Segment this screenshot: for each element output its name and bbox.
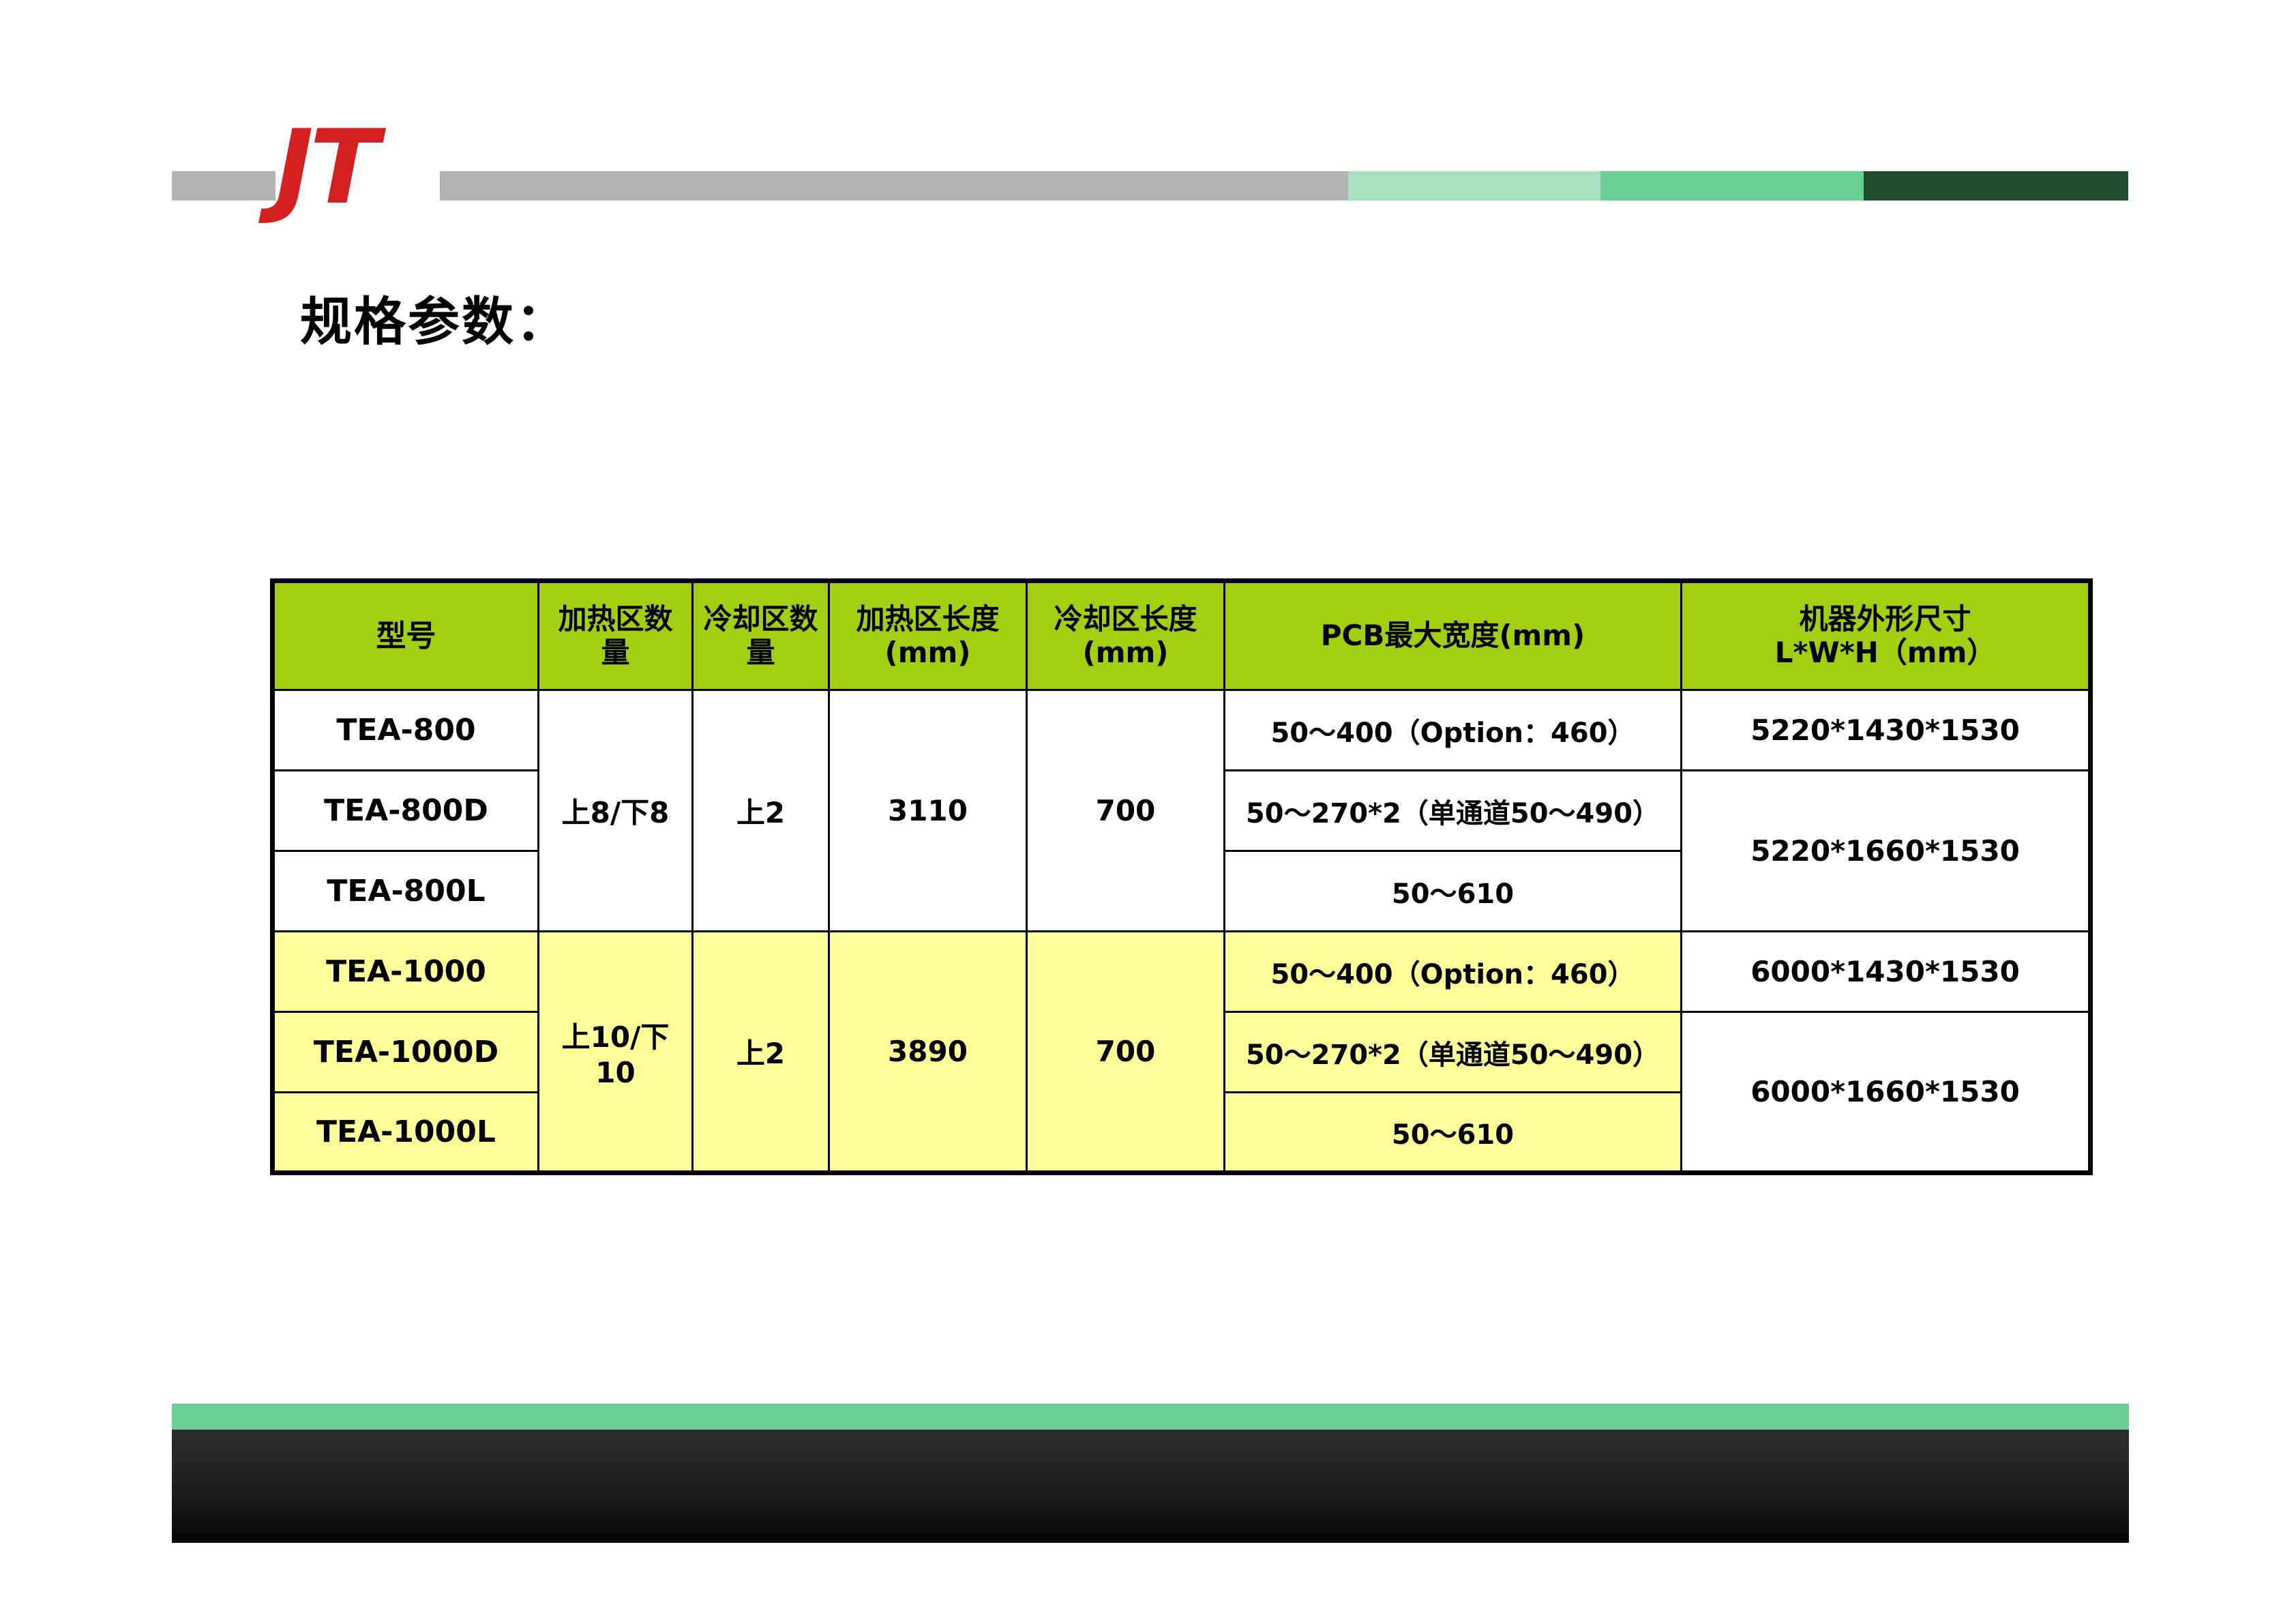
spec-table-body: TEA-800 上8/下8 上2 3110 700 50～400（Option：… <box>273 690 2091 1173</box>
table-row: TEA-1000 上10/下10 上2 3890 700 50～400（Opti… <box>273 932 2091 1012</box>
machine-dims-line1: 机器外形尺寸 <box>1799 602 1971 636</box>
cooling-zones-line1: 冷却区数 <box>703 602 818 636</box>
page-header: JT <box>0 0 2296 232</box>
cell-cooling-length: 700 <box>1027 690 1225 932</box>
column-header-heating-length: 加热区长度 (mm) <box>829 581 1027 690</box>
column-header-model-label: 型号 <box>376 619 436 653</box>
heating-zones-line2: 量 <box>601 636 629 669</box>
cell-machine-dims: 5220*1660*1530 <box>1682 771 2091 932</box>
cell-pcb-width: 50～270*2（单通道50～490） <box>1225 771 1682 851</box>
cell-pcb-width: 50～270*2（单通道50～490） <box>1225 1012 1682 1093</box>
cell-machine-dims: 5220*1430*1530 <box>1682 690 2091 771</box>
header-band-gray-left <box>172 171 275 201</box>
page-title: 规格参数： <box>300 280 569 355</box>
cell-heating-zones: 上10/下10 <box>539 932 693 1173</box>
cell-machine-dims: 6000*1430*1530 <box>1682 932 2091 1012</box>
header-band-gray-right <box>440 171 1348 201</box>
cell-model: TEA-1000 <box>273 932 539 1012</box>
header-band-green-light <box>1348 171 1600 201</box>
cell-cooling-length: 700 <box>1027 932 1225 1173</box>
footer-band-dark <box>172 1430 2129 1543</box>
header-band-green-mid <box>1600 171 1864 201</box>
column-header-pcb-width: PCB最大宽度(mm) <box>1225 581 1682 690</box>
cooling-length-line1: 冷却区长度 <box>1054 602 1197 636</box>
heating-length-line2: (mm) <box>885 636 971 669</box>
cell-pcb-width: 50～610 <box>1225 1093 1682 1173</box>
footer-band-green <box>172 1404 2129 1430</box>
column-header-heating-zones: 加热区数 量 <box>539 581 693 690</box>
spec-table: 型号 加热区数 量 冷却区数 量 加热区长度 (mm) 冷却区长度 (mm) <box>270 578 2093 1175</box>
column-header-cooling-zones: 冷却区数 量 <box>693 581 829 690</box>
cell-model: TEA-800D <box>273 771 539 851</box>
cell-machine-dims: 6000*1660*1530 <box>1682 1012 2091 1173</box>
cooling-length-line2: (mm) <box>1083 636 1169 669</box>
cell-model: TEA-800L <box>273 851 539 932</box>
cell-model: TEA-1000D <box>273 1012 539 1093</box>
header-band-green-dark <box>1864 171 2128 201</box>
spec-table-container: 型号 加热区数 量 冷却区数 量 加热区长度 (mm) 冷却区长度 (mm) <box>270 578 2088 1175</box>
heating-length-line1: 加热区长度 <box>856 602 999 636</box>
column-header-model: 型号 <box>273 581 539 690</box>
cell-heating-zones: 上8/下8 <box>539 690 693 932</box>
spec-table-head: 型号 加热区数 量 冷却区数 量 加热区长度 (mm) 冷却区长度 (mm) <box>273 581 2091 690</box>
column-header-cooling-length: 冷却区长度 (mm) <box>1027 581 1225 690</box>
cell-cooling-zones: 上2 <box>693 932 829 1173</box>
machine-dims-line2: L*W*H（mm） <box>1775 636 1996 669</box>
cell-pcb-width: 50～400（Option：460） <box>1225 932 1682 1012</box>
cell-pcb-width: 50～400（Option：460） <box>1225 690 1682 771</box>
column-header-machine-dims: 机器外形尺寸 L*W*H（mm） <box>1682 581 2091 690</box>
jt-logo: JT <box>275 121 443 214</box>
pcb-width-label: PCB最大宽度(mm) <box>1321 619 1585 652</box>
table-header-row: 型号 加热区数 量 冷却区数 量 加热区长度 (mm) 冷却区长度 (mm) <box>273 581 2091 690</box>
cell-pcb-width: 50～610 <box>1225 851 1682 932</box>
heating-zones-line1: 加热区数 <box>558 602 672 636</box>
cooling-zones-line2: 量 <box>746 636 775 669</box>
cell-model: TEA-800 <box>273 690 539 771</box>
cell-model: TEA-1000L <box>273 1093 539 1173</box>
cell-cooling-zones: 上2 <box>693 690 829 932</box>
cell-heating-length: 3890 <box>829 932 1027 1173</box>
table-row: TEA-800 上8/下8 上2 3110 700 50～400（Option：… <box>273 690 2091 771</box>
cell-heating-length: 3110 <box>829 690 1027 932</box>
